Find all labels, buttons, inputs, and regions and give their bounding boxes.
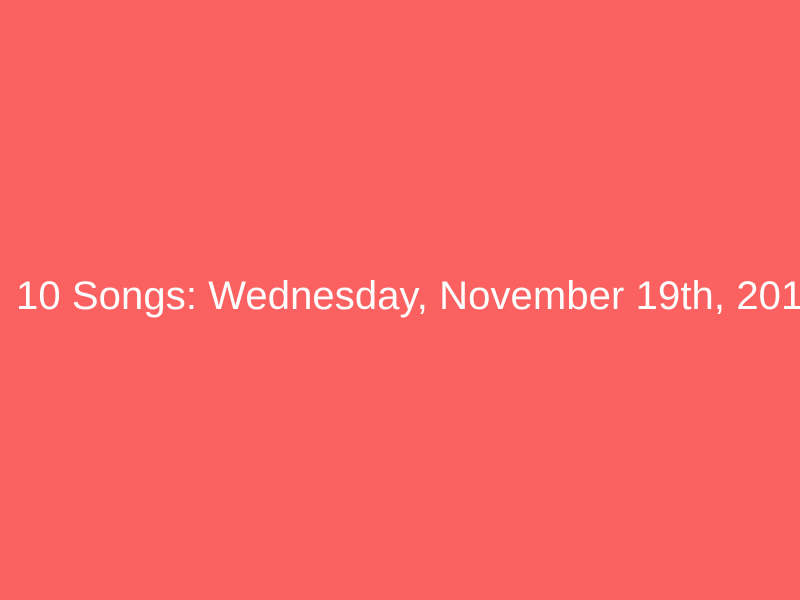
song-list-placeholder-card: 10 Songs: Wednesday, November 19th, 2014 (0, 0, 800, 600)
page-title: 10 Songs: Wednesday, November 19th, 2014 (0, 273, 800, 319)
